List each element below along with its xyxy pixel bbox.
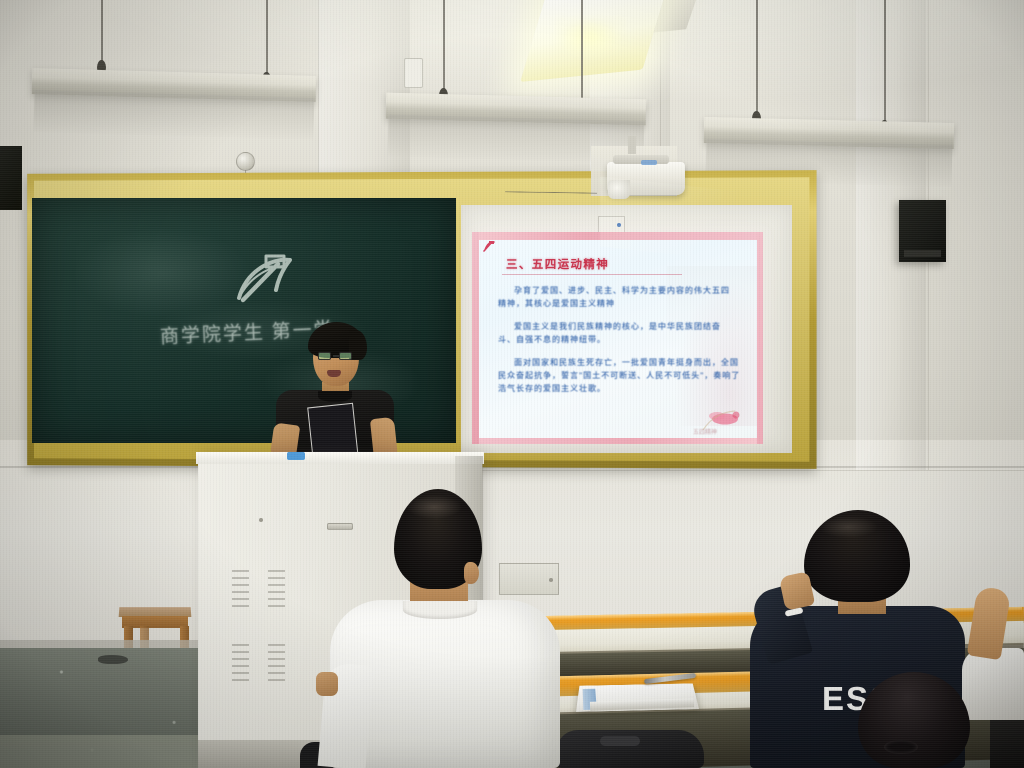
projector-lens-icon: [608, 180, 630, 199]
wall-access-panel: [499, 563, 559, 595]
hanging-light-shade-1: [33, 90, 314, 140]
lectern-vent-right-bottom: [268, 644, 285, 686]
lectern-lock[interactable]: [259, 518, 263, 522]
slide-title-rule: [502, 274, 682, 275]
projector-indicator: [641, 160, 657, 165]
wall-speaker-right-icon: [899, 200, 946, 262]
lectern-blue-object: [287, 452, 305, 460]
slide-border-right: [757, 232, 763, 444]
lectern-vent-right-top: [268, 570, 285, 612]
classroom-scene: 商学院学生 第一党 三、五四运动精神 孕育了爱国、进步、民主、科学为主要内容的伟…: [0, 0, 1024, 768]
wall-line-4: [480, 470, 1024, 471]
lectern-handle[interactable]: [327, 523, 353, 530]
presenter-mouth: [327, 370, 341, 377]
backpack-strap: [600, 736, 640, 746]
slide-signature: 五四精神: [693, 427, 717, 436]
floor-object: [98, 655, 128, 664]
slide-paragraph-2: 爱国主义是我们民族精神的核心，是中华民族团结奋斗、自强不息的精神纽带。: [498, 320, 736, 346]
hanging-cable-5: [756, 0, 758, 113]
student-foreground-hair-tie: [884, 740, 918, 754]
student-right-hair-highlight: [818, 516, 878, 538]
slide-paragraph-3: 面对国家和民族生死存亡，一批爱国青年挺身而出，全国民众奋起抗争，誓言"国土不可断…: [498, 356, 742, 395]
lectern-top-surface: [196, 452, 484, 464]
hanging-cable-2: [266, 0, 268, 74]
student-front-hair-highlight: [406, 495, 462, 519]
hanging-cable-3: [443, 0, 445, 90]
student-front-collar: [403, 601, 477, 619]
presenter-collar: [318, 391, 352, 402]
slide-paragraph-1: 孕育了爱国、进步、民主、科学为主要内容的伟大五四精神，其核心是爱国主义精神: [498, 284, 736, 310]
presenter-glasses-right-icon: [339, 352, 352, 360]
lectern-vent-left-top: [232, 570, 249, 612]
slide-title: 三、五四运动精神: [506, 256, 609, 272]
slide-border-left: [472, 232, 479, 444]
student-front-ear: [464, 562, 479, 584]
projector-mount-arm: [628, 136, 636, 154]
presenter-glasses-left-icon: [318, 352, 331, 360]
slide-border-top: [472, 232, 763, 240]
hammer-and-sickle-chalk-emblem: [216, 250, 310, 312]
interactive-board-sensor-icon: [598, 216, 625, 233]
lectern-vent-left-bottom: [232, 644, 249, 686]
hanging-cable-4: [581, 0, 583, 100]
presenter-glasses-bridge: [333, 355, 339, 357]
wall-switch-plate[interactable]: [404, 58, 423, 88]
student-front-hand: [316, 672, 338, 696]
wall-speaker-left-icon: [0, 146, 22, 210]
hanging-cable-1: [101, 0, 103, 62]
ceiling-light-flare: [556, 18, 624, 58]
projected-slide: 三、五四运动精神 孕育了爱国、进步、民主、科学为主要内容的伟大五四精神，其核心是…: [472, 232, 763, 444]
cpc-party-emblem-icon: [481, 239, 497, 254]
slide-border-bottom: [472, 438, 763, 444]
hanging-cable-6: [884, 0, 886, 122]
wall-knob: [236, 152, 255, 171]
